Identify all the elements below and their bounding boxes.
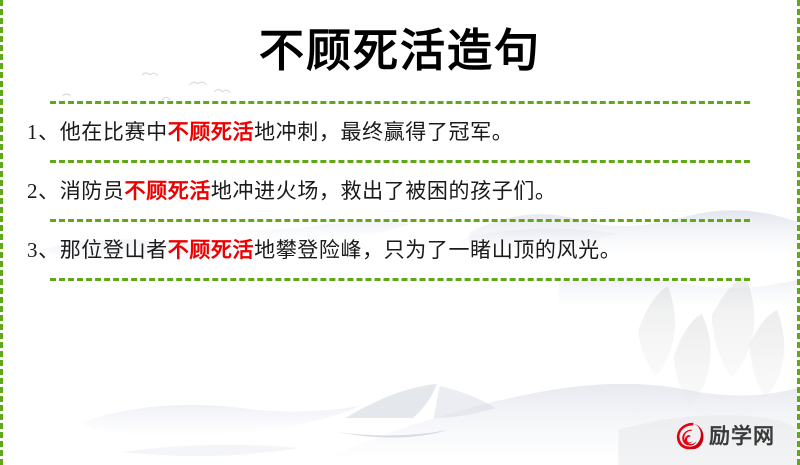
sentence-index-3: 3、 xyxy=(27,238,60,262)
sentence-text-after-2: 地冲进火场，救出了被困的孩子们。 xyxy=(211,179,557,203)
document-page: 不顾死活造句 1、他在比赛中不顾死活地冲刺，最终赢得了冠军。 2、消防员不顾死活… xyxy=(0,0,800,465)
sentence-text-after-3: 地攀登险峰，只为了一睹山顶的风光。 xyxy=(254,238,621,262)
page-title: 不顾死活造句 xyxy=(25,0,775,85)
sentence-text-before-3: 那位登山者 xyxy=(60,238,168,262)
sentence-item-3: 3、那位登山者不顾死活地攀登险峰，只为了一睹山顶的风光。 xyxy=(25,222,775,278)
sentence-index-2: 2、 xyxy=(27,179,60,203)
keyword-highlight-2: 不顾死活 xyxy=(125,179,211,203)
sentence-text-before-1: 他在比赛中 xyxy=(60,120,168,144)
keyword-highlight-1: 不顾死活 xyxy=(168,120,254,144)
watermark-brand-label: 励学网 xyxy=(709,426,775,447)
keyword-highlight-3: 不顾死活 xyxy=(168,238,254,262)
red-swirl-flame-icon xyxy=(670,419,704,453)
divider-3 xyxy=(50,278,750,281)
sentence-item-2: 2、消防员不顾死活地冲进火场，救出了被困的孩子们。 xyxy=(25,163,775,219)
document-content: 不顾死活造句 1、他在比赛中不顾死活地冲刺，最终赢得了冠军。 2、消防员不顾死活… xyxy=(3,0,797,465)
site-watermark: 励学网 xyxy=(670,419,775,453)
sentence-text-after-1: 地冲刺，最终赢得了冠军。 xyxy=(254,120,513,144)
sentence-text-before-2: 消防员 xyxy=(60,179,125,203)
sentence-item-1: 1、他在比赛中不顾死活地冲刺，最终赢得了冠军。 xyxy=(25,104,775,160)
sentence-index-1: 1、 xyxy=(27,120,60,144)
